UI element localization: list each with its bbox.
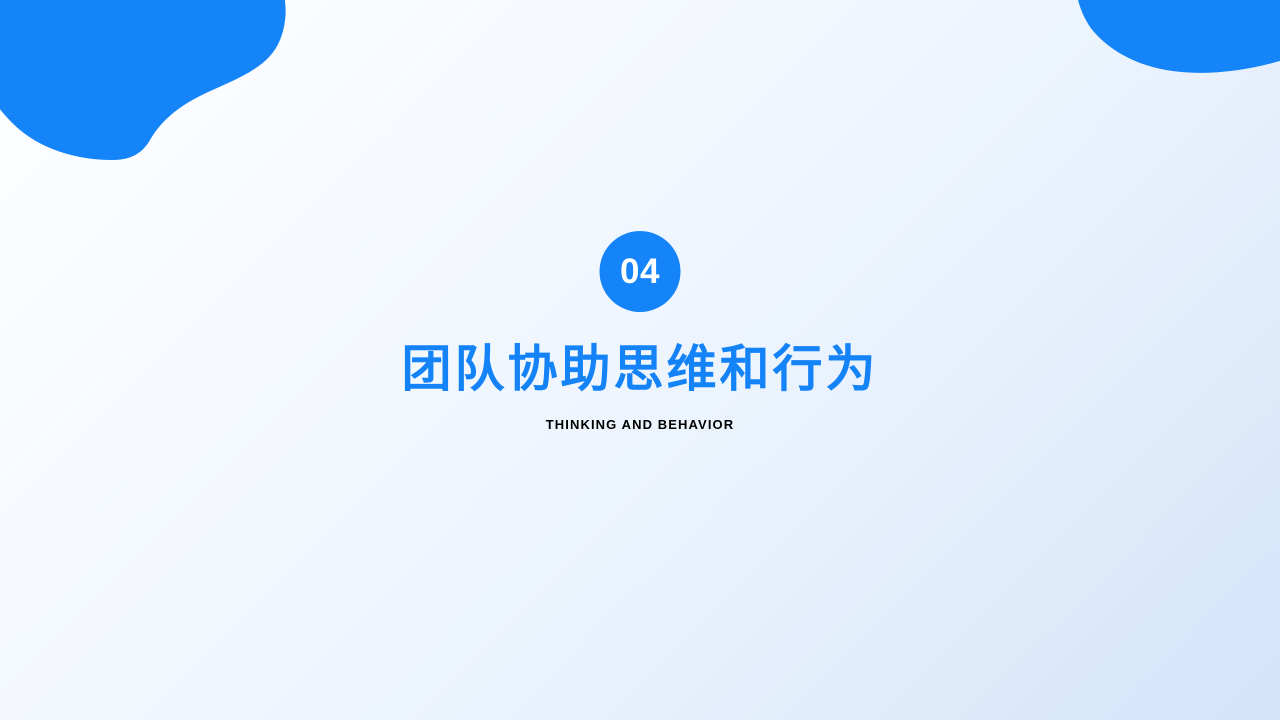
section-divider-slide: 04 团队协助思维和行为 THINKING AND BEHAVIOR: [0, 0, 1280, 720]
section-content: 04 团队协助思维和行为 THINKING AND BEHAVIOR: [0, 0, 1280, 720]
section-number-label: 04: [620, 254, 660, 289]
section-title: 团队协助思维和行为: [0, 340, 1280, 398]
section-subtitle: THINKING AND BEHAVIOR: [0, 416, 1280, 434]
section-number-badge: 04: [600, 231, 681, 312]
